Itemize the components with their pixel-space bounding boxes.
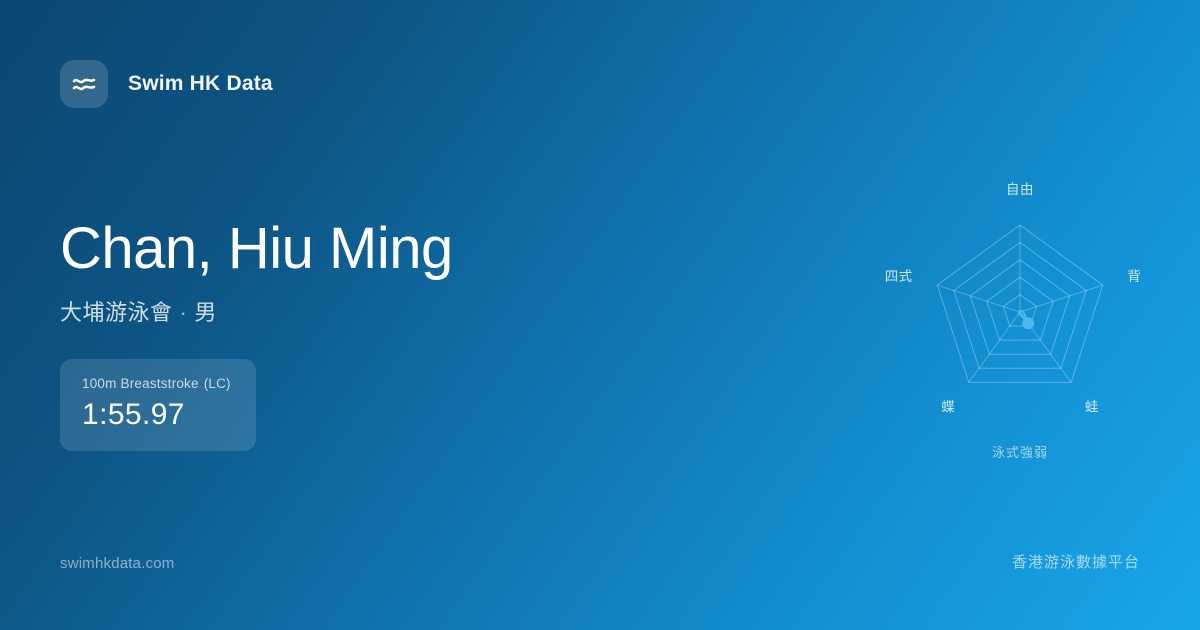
radar-spoke-3 [969, 312, 1020, 382]
stroke-radar-chart: 自由背蛙蝶四式 泳式強弱 [870, 168, 1170, 478]
brand-name: Swim HK Data [128, 72, 273, 96]
radar-svg: 自由背蛙蝶四式 [870, 168, 1170, 468]
stat-event-name: 100m Breaststroke [82, 376, 199, 391]
wave-icon [70, 70, 98, 98]
athlete-gender: 男 [194, 300, 217, 325]
radar-axis-labels: 自由背蛙蝶四式 [885, 182, 1142, 415]
stat-course-code: (LC) [204, 376, 231, 391]
radar-spokes [937, 225, 1102, 382]
footer-tagline: 香港游泳數據平台 [1012, 551, 1140, 572]
radar-data-point-breaststroke [1022, 317, 1034, 329]
meta-separator: · [173, 300, 195, 325]
athlete-name: Chan, Hiu Ming [60, 218, 453, 281]
radar-spoke-4 [937, 285, 1020, 312]
athlete-meta: 大埔游泳會·男 [60, 295, 453, 327]
radar-axis-label-0: 自由 [1006, 182, 1034, 197]
app-logo [60, 60, 108, 108]
stat-time-value: 1:55.97 [82, 398, 234, 432]
radar-axis-label-2: 蛙 [1085, 400, 1099, 415]
athlete-hero: Chan, Hiu Ming 大埔游泳會·男 100m Breaststroke… [60, 218, 453, 451]
best-time-card[interactable]: 100m Breaststroke(LC) 1:55.97 [60, 359, 256, 451]
radar-axis-label-4: 四式 [885, 269, 913, 284]
athlete-club: 大埔游泳會 [60, 300, 173, 325]
radar-spoke-1 [1020, 285, 1103, 312]
stat-event-row: 100m Breaststroke(LC) [82, 376, 234, 391]
brand-header: Swim HK Data [60, 60, 273, 108]
radar-axis-label-1: 背 [1127, 269, 1141, 284]
radar-caption: 泳式強弱 [870, 442, 1170, 461]
radar-axis-label-3: 蝶 [941, 400, 955, 415]
footer-site-url: swimhkdata.com [60, 555, 175, 572]
